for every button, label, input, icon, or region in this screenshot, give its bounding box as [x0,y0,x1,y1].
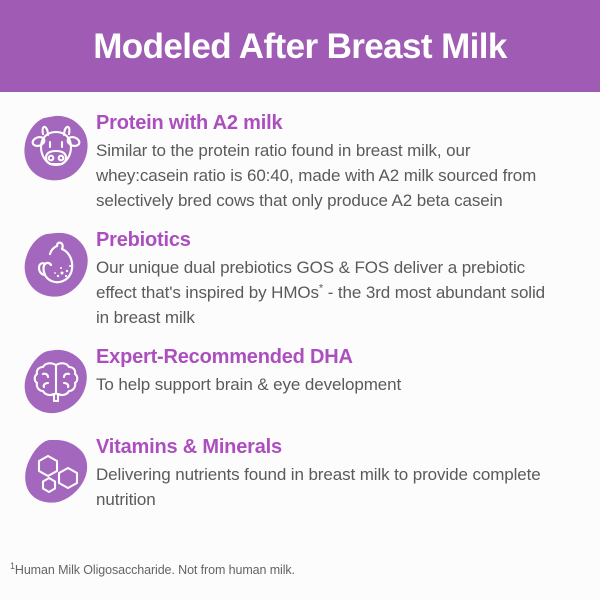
feature-text: Expert-Recommended DHA To help support b… [94,344,582,397]
feature-heading: Protein with A2 milk [96,112,582,136]
stomach-icon [22,231,90,299]
feature-body: Our unique dual prebiotics GOS & FOS del… [96,255,558,330]
icon-container [18,434,94,510]
icon-container [18,110,94,186]
feature-list: Protein with A2 milk Similar to the prot… [0,92,600,563]
icon-container [18,227,94,303]
feature-body: Similar to the protein ratio found in br… [96,138,558,213]
feature-text: Vitamins & Minerals Delivering nutrients… [94,434,582,512]
hexagons-icon [22,438,90,506]
footnote-text: Human Milk Oligosaccharide. Not from hum… [15,563,295,577]
footnote: 1Human Milk Oligosaccharide. Not from hu… [0,563,600,600]
feature-body: Delivering nutrients found in breast mil… [96,462,558,512]
feature-text: Protein with A2 milk Similar to the prot… [94,110,582,213]
feature-text: Prebiotics Our unique dual prebiotics GO… [94,227,582,330]
cow-icon [22,114,90,182]
infographic-page: Modeled After Breast Milk [0,0,600,600]
feature-heading: Vitamins & Minerals [96,436,582,460]
feature-heading: Prebiotics [96,229,582,253]
feature-item-prebiotics: Prebiotics Our unique dual prebiotics GO… [18,227,582,330]
header-banner: Modeled After Breast Milk [0,0,600,92]
feature-heading: Expert-Recommended DHA [96,346,582,370]
feature-body: To help support brain & eye development [96,372,558,397]
brain-icon [22,348,90,416]
page-title: Modeled After Breast Milk [93,29,507,64]
feature-item-protein: Protein with A2 milk Similar to the prot… [18,110,582,213]
feature-item-vitamins: Vitamins & Minerals Delivering nutrients… [18,434,582,512]
feature-item-dha: Expert-Recommended DHA To help support b… [18,344,582,420]
icon-container [18,344,94,420]
